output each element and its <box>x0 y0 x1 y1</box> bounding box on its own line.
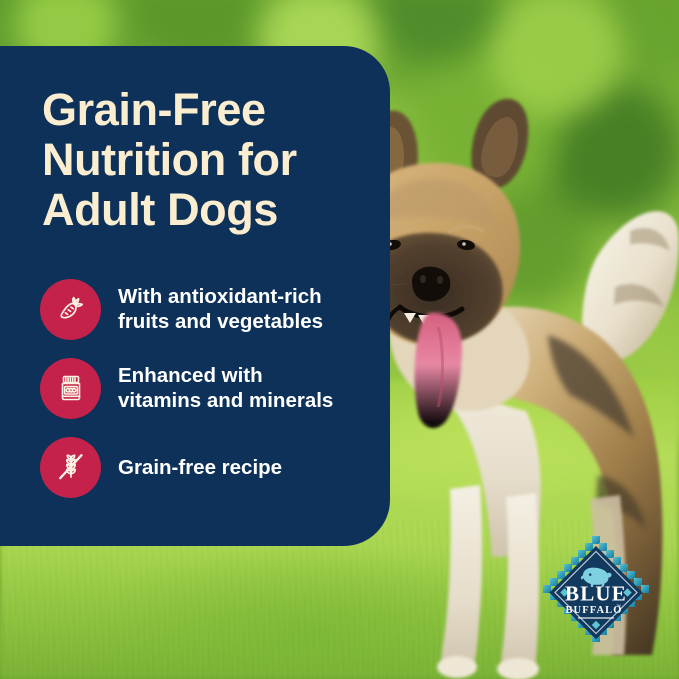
product-feature-ad: Grain-Free Nutrition for Adult Dogs With <box>0 0 679 679</box>
logo-word-buffalo: BUFFALO <box>565 605 622 616</box>
list-item-label: Enhanced with vitamins and minerals <box>118 363 333 413</box>
blue-buffalo-logo: BLUE BUFFALO ™ <box>537 534 655 652</box>
list-item: Grain-free recipe <box>40 436 380 498</box>
carrot-icon <box>40 279 101 340</box>
page-title: Grain-Free Nutrition for Adult Dogs <box>42 85 372 235</box>
info-panel: Grain-Free Nutrition for Adult Dogs With <box>0 46 390 546</box>
list-item-label: Grain-free recipe <box>118 455 282 480</box>
logo-trademark: ™ <box>616 604 621 610</box>
no-grain-wheat-icon <box>40 437 101 498</box>
vitamin-jar-icon <box>40 358 101 419</box>
list-item-label: With antioxidant-rich fruits and vegetab… <box>118 284 323 334</box>
benefit-list: With antioxidant-rich fruits and vegetab… <box>40 278 380 498</box>
logo-word-blue: BLUE <box>565 582 627 606</box>
list-item: Enhanced with vitamins and minerals <box>40 357 380 419</box>
list-item: With antioxidant-rich fruits and vegetab… <box>40 278 380 340</box>
